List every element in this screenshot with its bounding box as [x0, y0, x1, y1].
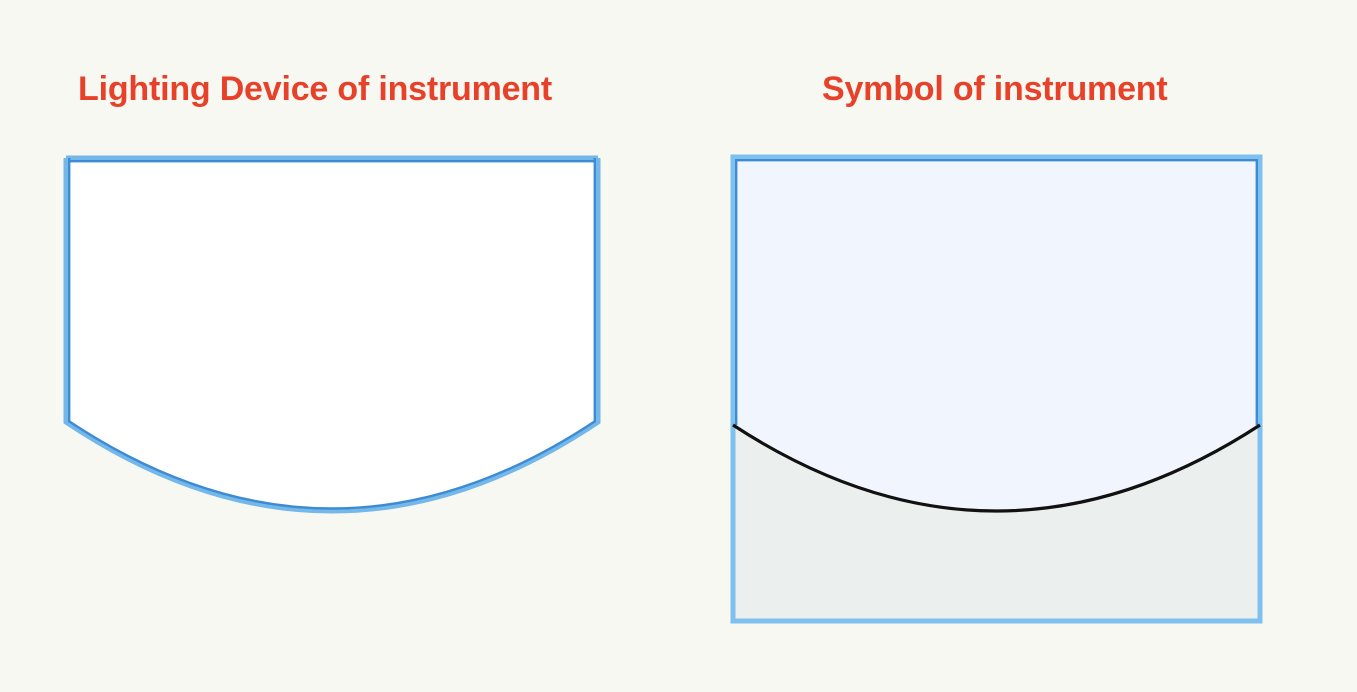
panel-symbol: Symbol of instrument	[660, 0, 1357, 692]
symbol-figure	[660, 0, 1357, 692]
lighting-device-fill	[66, 158, 598, 511]
lighting-device-figure	[0, 0, 660, 692]
symbol-upper-region-fill	[733, 157, 1260, 511]
panel-lighting-device: Lighting Device of instrument	[0, 0, 660, 692]
figure-stage: Lighting Device of instrument Symbol of …	[0, 0, 1357, 692]
